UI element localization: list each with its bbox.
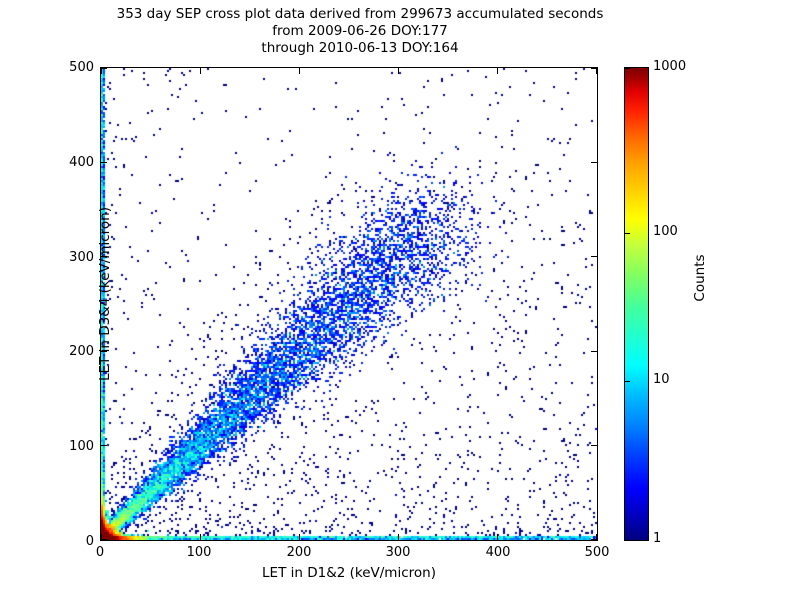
colorbar-tick-100: [625, 233, 630, 234]
x-tick-400: [497, 534, 498, 540]
x-tick-200: [299, 534, 300, 540]
x-tick-400-top: [497, 68, 498, 74]
y-tick-400-right: [591, 162, 597, 163]
xticklabel-200: 200: [269, 545, 329, 560]
colorbar-ticklabel-1: 1: [653, 531, 661, 546]
plot-title: 353 day SEP cross plot data derived from…: [0, 6, 720, 57]
yticklabel-500: 500: [40, 60, 94, 75]
x-axis-label: LET in D1&2 (keV/micron): [100, 565, 598, 581]
yticklabel-100: 100: [40, 439, 94, 454]
colorbar-ticklabel-1000: 1000: [653, 59, 686, 74]
y-tick-500-right: [591, 68, 597, 69]
y-tick-0: [101, 539, 107, 540]
xticklabel-400: 400: [468, 545, 528, 560]
x-tick-300: [398, 534, 399, 540]
xticklabel-100: 100: [169, 545, 229, 560]
x-tick-100: [200, 534, 201, 540]
colorbar-tick-10: [625, 381, 630, 382]
yticklabel-400: 400: [40, 155, 94, 170]
plot-title-line-2: from 2009-06-26 DOY:177: [0, 23, 720, 40]
xticklabel-300: 300: [368, 545, 428, 560]
plot-title-line-1: 353 day SEP cross plot data derived from…: [0, 6, 720, 23]
plot-title-line-3: through 2010-06-13 DOY:164: [0, 40, 720, 57]
x-tick-100-top: [200, 68, 201, 74]
colorbar-ticklabel-10: 10: [653, 372, 670, 387]
scatter-heatmap-data: [101, 68, 597, 540]
y-tick-0-right: [591, 539, 597, 540]
yticklabel-200: 200: [40, 344, 94, 359]
figure-canvas: 353 day SEP cross plot data derived from…: [0, 0, 800, 600]
plot-axes: [100, 67, 598, 541]
yticklabel-300: 300: [40, 250, 94, 265]
colorbar-ticklabel-100: 100: [653, 224, 678, 239]
xticklabel-500: 500: [567, 545, 627, 560]
y-tick-200-right: [591, 351, 597, 352]
x-tick-200-top: [299, 68, 300, 74]
colorbar-tick-1000: [625, 68, 630, 69]
x-tick-300-top: [398, 68, 399, 74]
colorbar-tick-1: [625, 540, 630, 541]
y-axis-label: LET in D3&4 (keV/micron): [97, 57, 113, 531]
colorbar: [624, 67, 649, 541]
colorbar-label: Counts: [692, 178, 708, 378]
yticklabel-0: 0: [40, 534, 94, 549]
y-tick-300-right: [591, 256, 597, 257]
y-tick-100-right: [591, 445, 597, 446]
